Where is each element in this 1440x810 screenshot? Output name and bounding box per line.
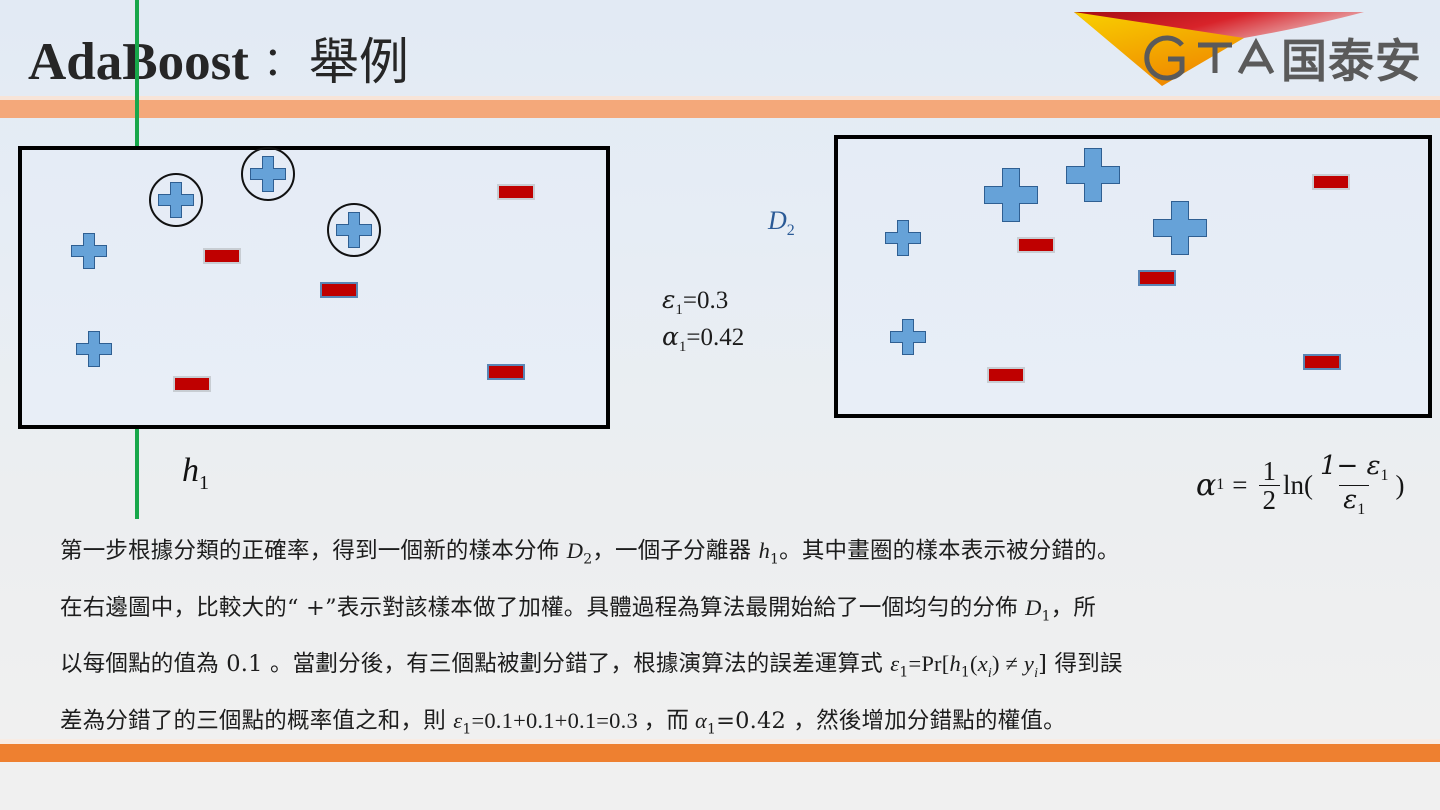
logo-cjk-text: 国泰安: [1281, 38, 1422, 84]
plus-marker: [76, 331, 112, 367]
minus-marker: [1017, 237, 1055, 253]
body-paragraph: 第一步根據分類的正確率，得到一個新的樣本分佈 D2，一個子分離器 h1。其中畫圈…: [60, 527, 1380, 753]
minus-marker: [987, 367, 1025, 383]
header-band: [0, 100, 1440, 118]
classifier-h1-label: h1: [182, 452, 209, 495]
body-line-3: 以每個點的值為 0.1 。當劃分後，有三個點被劃分錯了，根據演算法的誤差運算式 …: [60, 640, 1380, 697]
formula-equals: =: [1224, 470, 1255, 501]
title-cjk: 舉例: [309, 33, 409, 91]
epsilon-1-value: ε1=0.3: [662, 285, 728, 319]
slide-root: AdaBoost：舉例: [0, 0, 1440, 810]
plus-marker: [885, 220, 921, 256]
distribution-d2-label: D2: [768, 206, 795, 240]
footer-area: [0, 762, 1440, 810]
page-title: AdaBoost：舉例: [28, 22, 409, 94]
minus-marker: [320, 282, 358, 298]
formula-inner-fraction: 1− ε1 ε1: [1316, 452, 1393, 519]
plus-marker: [890, 319, 926, 355]
formula-close-paren: ): [1396, 470, 1405, 501]
title-colon: ：: [249, 39, 309, 84]
body-line-2: 在右邊圖中，比較大的“ +”表示對該樣本做了加權。具體過程為算法最開始給了一個均…: [60, 584, 1380, 641]
plus-marker: [158, 182, 194, 218]
minus-marker: [173, 376, 211, 392]
brand-logo: 国泰安: [1012, 4, 1432, 96]
minus-marker: [1303, 354, 1341, 370]
gta-wordmark-icon: [1140, 32, 1300, 84]
plus-marker: [1153, 201, 1207, 255]
formula-alpha-sub: 1: [1216, 476, 1224, 494]
formula-half: 1 2: [1259, 457, 1281, 515]
alpha-formula: α1 = 1 2 ln( 1− ε1 ε1 ): [1196, 452, 1405, 519]
plus-marker: [984, 168, 1038, 222]
formula-alpha: α: [1196, 468, 1216, 503]
alpha-1-value: α1=0.42: [662, 322, 744, 356]
body-line-1: 第一步根據分類的正確率，得到一個新的樣本分佈 D2，一個子分離器 h1。其中畫圈…: [60, 527, 1380, 584]
formula-ln: ln(: [1283, 470, 1313, 501]
plus-marker: [1066, 148, 1120, 202]
footer-band: [0, 744, 1440, 762]
minus-marker: [1138, 270, 1176, 286]
plus-marker: [71, 233, 107, 269]
plus-marker: [250, 156, 286, 192]
minus-marker: [203, 248, 241, 264]
minus-marker: [487, 364, 525, 380]
plus-marker: [336, 212, 372, 248]
minus-marker: [1312, 174, 1350, 190]
minus-marker: [497, 184, 535, 200]
